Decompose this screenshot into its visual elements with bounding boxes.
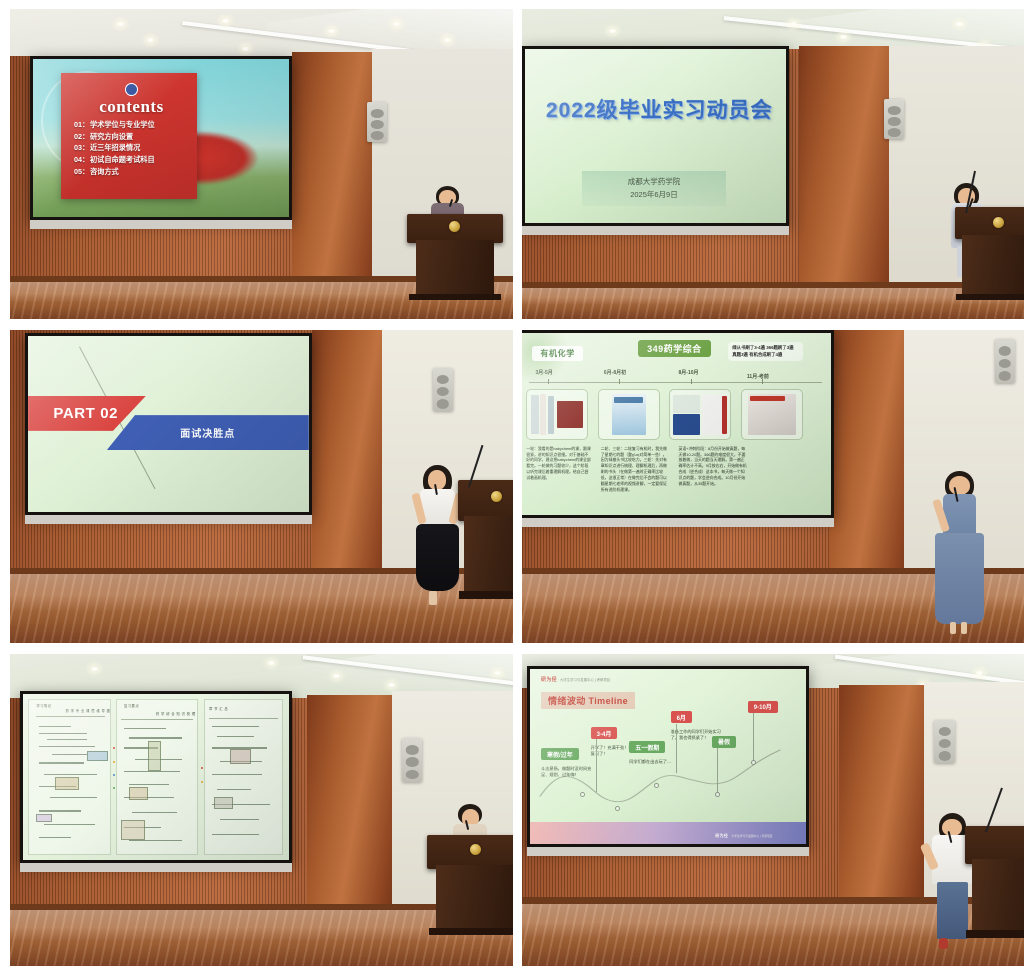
study-text-column: 二轮、三轮：二轮复习有机时，我先做了星期七的题（整ընդ对简单一些），因为绿基头… xyxy=(601,446,669,493)
photo-panel-4: 有机化学 349药学综合 绿从书刷了3-4遍 366题刷了3遍 真题3遍 有机合… xyxy=(522,330,1024,643)
slide-title: contents xyxy=(74,98,189,115)
speaker-person xyxy=(929,471,989,634)
timeline-body: 斗志昂扬，做题时没时间充足、规划、过年嗨！ xyxy=(541,766,593,779)
screen-bottom-bar xyxy=(522,226,789,235)
photo-collage: contents 01：学术学位与专业学位 02：研究方向设置 03：近三年招录… xyxy=(0,0,1024,974)
notes-box xyxy=(87,751,108,761)
study-text-column: 英语+冲刺阶段：8月份开始做真题，每天做10-20题。366题的难度很大，不要放… xyxy=(679,446,747,487)
part-title-banner: 面试决胜点 xyxy=(107,415,309,450)
projection-screen: 学习笔记 药 学 专 业 课 思 维 导 图 复习要点 药 学 综 合 知 识 … xyxy=(23,694,289,860)
slide-heading: 2022级毕业实习动员会 xyxy=(546,94,773,124)
leg xyxy=(950,622,956,633)
denim-dress xyxy=(935,533,983,624)
timeline-chip: 3-4月 xyxy=(591,727,618,739)
head xyxy=(428,470,446,490)
photo-panel-2: 2022级毕业实习动员会 成都大学药学院 2025年6月9日 xyxy=(522,9,1024,319)
notes-box xyxy=(36,814,52,822)
downlight-icon xyxy=(975,670,984,676)
timeline-axis xyxy=(529,382,821,383)
book-thumbnail-box xyxy=(526,389,588,440)
podium-body xyxy=(416,240,494,296)
footer-brand-logo: 研为径 xyxy=(715,833,728,839)
wood-wall-column xyxy=(292,52,383,281)
photo-panel-5: 学习笔记 药 学 专 业 课 思 维 导 图 复习要点 药 学 综 合 知 识 … xyxy=(10,654,513,966)
air-conditioner-vent xyxy=(433,368,453,412)
podium-base xyxy=(956,294,1024,301)
notes-page xyxy=(204,699,284,855)
period-label: 3月-5月 xyxy=(536,369,553,376)
projection-screen-frame: 有机化学 349药学综合 绿从书刷了3-4遍 366题刷了3遍 真题3遍 有机合… xyxy=(522,330,834,518)
podium-body xyxy=(464,516,513,592)
podium xyxy=(965,826,1024,938)
period-label: 6月-8月初 xyxy=(604,369,626,376)
downlight-icon xyxy=(146,37,155,43)
photo-panel-3: PART 02 面试决胜点 xyxy=(10,330,513,643)
podium-body xyxy=(436,865,513,929)
timeline-chip: 暑假 xyxy=(712,736,736,748)
slide-brand-bar: 研为径 大学生学习与发展中心 | 考研项目 xyxy=(541,676,610,683)
notes-heading: 药 学 专 业 课 思 维 导 图 xyxy=(66,708,111,713)
projection-screen-frame: PART 02 面试决胜点 xyxy=(25,333,312,515)
slide-subtitle: 成都大学药学院 2025年6月9日 xyxy=(582,171,725,207)
projection-screen-frame: 研为径 大学生学习与发展中心 | 考研项目 情绪波动 Timeline 寒假/过… xyxy=(527,666,809,847)
podium-body xyxy=(972,859,1024,931)
contents-list: 01：学术学位与专业学位 02：研究方向设置 03：近三年招录情况 04：初试自… xyxy=(74,119,189,177)
podium-emblem-icon xyxy=(993,217,1004,228)
podium-base xyxy=(409,294,501,300)
book-thumbnail-box xyxy=(598,389,660,440)
wood-wall-column xyxy=(839,685,930,903)
speaker-person xyxy=(412,465,462,606)
notes-box xyxy=(121,820,145,840)
part-label: PART 02 xyxy=(53,405,118,422)
period-label: 8月-10月 xyxy=(679,369,699,376)
subject-tag-center: 349药学综合 xyxy=(638,340,711,357)
notes-box xyxy=(55,777,79,790)
projection-screen-frame: 学习笔记 药 学 专 业 课 思 维 导 图 复习要点 药 学 综 合 知 识 … xyxy=(20,691,292,863)
projection-screen: PART 02 面试决胜点 xyxy=(28,336,309,512)
timeline-tick xyxy=(691,379,692,384)
podium xyxy=(427,835,513,935)
photo-panel-6: 研为径 大学生学习与发展中心 | 考研项目 情绪波动 Timeline 寒假/过… xyxy=(522,654,1024,966)
podium-top xyxy=(965,826,1024,864)
notes-box xyxy=(214,797,233,809)
timeline-tick xyxy=(548,379,549,384)
leg xyxy=(961,622,967,633)
air-conditioner-vent xyxy=(402,738,422,782)
podium xyxy=(407,214,503,301)
downlight-icon xyxy=(443,37,452,43)
timeline-node xyxy=(715,792,720,797)
slide-background: PART 02 面试决胜点 xyxy=(28,336,309,512)
podium-emblem-icon xyxy=(470,844,481,855)
wood-wall-column xyxy=(307,695,398,910)
timeline-body: 同学们都在出去玩了… xyxy=(629,759,681,766)
slide-background: 学习笔记 药 学 专 业 课 思 维 导 图 复习要点 药 学 综 合 知 识 … xyxy=(23,694,289,860)
shoe xyxy=(939,938,948,949)
wood-wall-column xyxy=(799,46,900,288)
slide-date: 2025年6月9日 xyxy=(582,189,725,202)
period-label: 11月-考前 xyxy=(747,373,769,380)
timeline-node xyxy=(580,792,585,797)
podium-top xyxy=(458,480,513,520)
timeline-tick xyxy=(619,379,620,384)
timeline-stem xyxy=(596,739,597,791)
downlight-icon xyxy=(327,28,336,34)
notes-box xyxy=(129,787,148,800)
projection-screen: contents 01：学术学位与专业学位 02：研究方向设置 03：近三年招录… xyxy=(33,59,289,217)
podium-base xyxy=(429,928,513,935)
slide-org: 成都大学药学院 xyxy=(582,176,725,189)
podium-emblem-icon xyxy=(491,491,502,502)
part-title: 面试决胜点 xyxy=(180,425,235,440)
notes-box xyxy=(230,749,251,764)
wood-wall-column xyxy=(312,330,392,574)
downlight-icon xyxy=(608,28,617,34)
study-note-callout: 绿从书刷了3-4遍 366题刷了3遍 真题3遍 有机合成刷了4遍 xyxy=(728,342,803,361)
list-item: 05：咨询方式 xyxy=(74,166,189,178)
contents-card: contents 01：学术学位与专业学位 02：研究方向设置 03：近三年招录… xyxy=(61,73,196,200)
leg xyxy=(429,591,437,605)
podium xyxy=(458,480,513,599)
podium xyxy=(955,207,1024,300)
screen-bottom-bar xyxy=(527,847,809,856)
projection-screen: 2022级毕业实习动员会 成都大学药学院 2025年6月9日 xyxy=(525,49,786,223)
list-item: 04：初试自命题考试科目 xyxy=(74,154,189,166)
timeline-stem xyxy=(717,748,718,793)
downlight-icon xyxy=(839,34,848,40)
brand-subtitle: 大学生学习与发展中心 | 考研项目 xyxy=(560,677,610,682)
air-conditioner-vent xyxy=(995,339,1015,383)
stage-floor xyxy=(522,288,1024,319)
book-thumbnail-box xyxy=(741,389,803,440)
timeline-chip: 寒假/过年 xyxy=(541,748,579,760)
slide-background: 研为径 大学生学习与发展中心 | 考研项目 情绪波动 Timeline 寒假/过… xyxy=(530,669,806,844)
projection-screen: 有机化学 349药学综合 绿从书刷了3-4遍 366题刷了3遍 真题3遍 有机合… xyxy=(522,333,831,515)
skirt xyxy=(416,524,458,592)
head xyxy=(949,476,970,496)
timeline-stem xyxy=(676,724,677,773)
footer-brand: 研为径 大学生学习与发展中心 | 考研项目 xyxy=(715,833,772,839)
screen-bottom-bar xyxy=(522,518,834,527)
photo-panel-1: contents 01：学术学位与专业学位 02：研究方向设置 03：近三年招录… xyxy=(10,9,513,319)
wood-wall-column xyxy=(829,330,915,574)
notes-heading: 复习要点 xyxy=(124,703,139,708)
screen-bottom-bar xyxy=(20,863,292,872)
notes-heading: 药 学 综 合 知 识 梳 理 xyxy=(156,711,196,716)
timeline-chip: 6月 xyxy=(671,711,692,723)
air-conditioner-vent xyxy=(934,720,954,764)
projection-screen-frame: contents 01：学术学位与专业学位 02：研究方向设置 03：近三年招录… xyxy=(30,56,292,220)
air-conditioner-vent xyxy=(367,102,387,142)
timeline-chip: 9-10月 xyxy=(748,701,778,713)
brand-logo: 研为径 xyxy=(541,676,557,683)
timeline-stem xyxy=(753,713,754,762)
footer-brand-subtitle: 大学生学习与发展中心 | 考研项目 xyxy=(731,834,772,838)
air-conditioner-vent xyxy=(884,99,904,139)
downlight-icon xyxy=(332,673,341,679)
podium-body xyxy=(962,235,1024,295)
list-item: 03：近三年招录情况 xyxy=(74,142,189,154)
subject-tag-left: 有机化学 xyxy=(532,346,582,361)
list-item: 02：研究方向设置 xyxy=(74,131,189,143)
downlight-icon xyxy=(267,660,276,666)
slide-background: 2022级毕业实习动员会 成都大学药学院 2025年6月9日 xyxy=(525,49,786,223)
projection-screen-frame: 2022级毕业实习动员会 成都大学药学院 2025年6月9日 xyxy=(522,46,789,226)
list-item: 01：学术学位与专业学位 xyxy=(74,119,189,131)
podium-base xyxy=(966,930,1024,938)
screen-bottom-bar xyxy=(30,220,292,229)
jeans xyxy=(937,882,968,940)
slide-background: 有机化学 349药学综合 绿从书刷了3-4遍 366题刷了3遍 真题3遍 有机合… xyxy=(522,333,831,515)
book-thumbnail-box xyxy=(669,389,731,440)
slide-title: 情绪波动 Timeline xyxy=(541,692,635,709)
timeline-chip: 五一假期 xyxy=(629,741,665,753)
study-text-column: 一轮：我看的是babychem的课，跟课很紧，讲的知识点很细。对于基础不好的同学… xyxy=(526,446,591,481)
university-crest-icon xyxy=(125,83,138,96)
notes-box xyxy=(148,741,161,771)
downlight-icon xyxy=(493,670,502,676)
podium-base xyxy=(459,591,513,599)
projection-screen: 研为径 大学生学习与发展中心 | 考研项目 情绪波动 Timeline 寒假/过… xyxy=(530,669,806,844)
notes-heading: 章 节 汇 总 xyxy=(209,706,228,711)
head xyxy=(942,819,962,837)
screen-bottom-bar xyxy=(25,515,312,524)
notes-heading: 学习笔记 xyxy=(36,703,51,708)
